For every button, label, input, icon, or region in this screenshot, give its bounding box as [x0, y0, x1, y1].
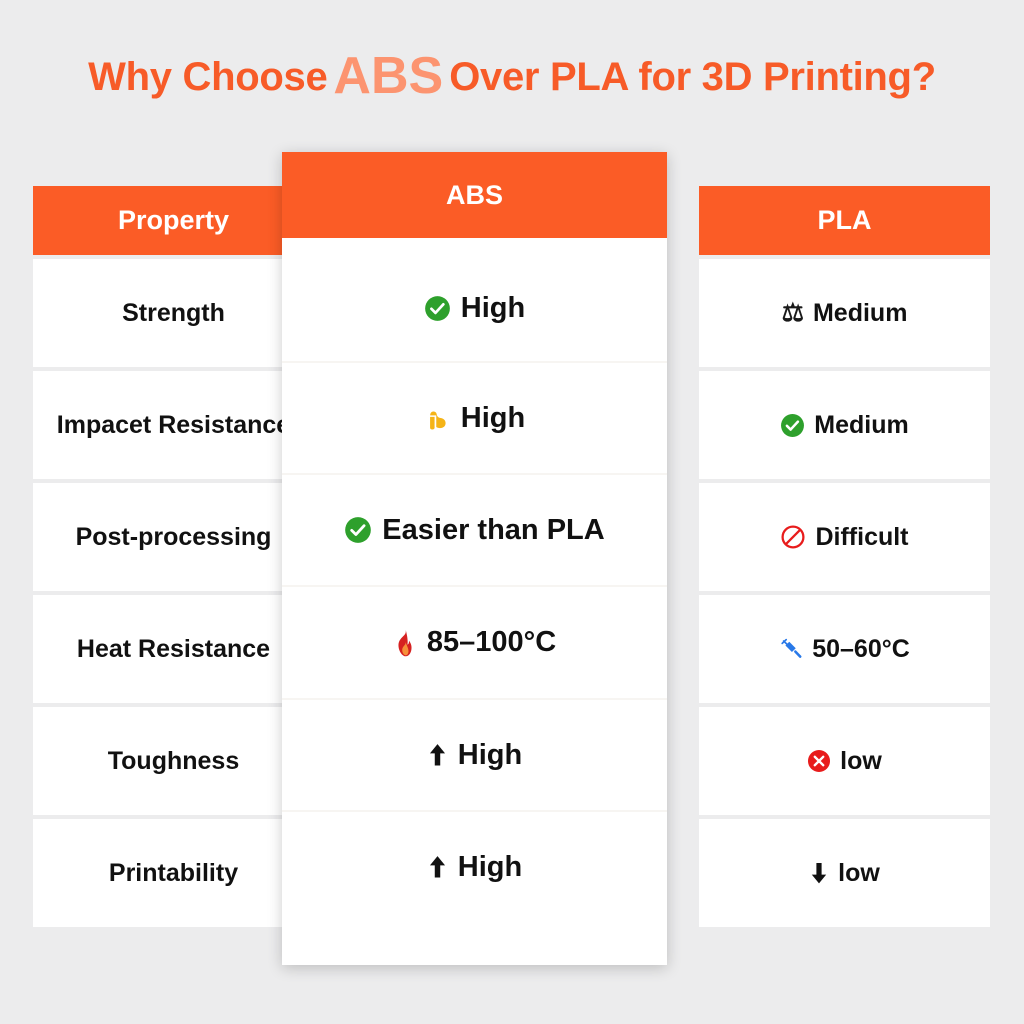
page-title-after: Over PLA for 3D Printing? — [449, 55, 936, 99]
abs-card-body: High High Easier than PLA — [282, 238, 667, 965]
abs-value-cell: High — [282, 698, 667, 810]
arrow-up-icon — [427, 742, 448, 768]
pla-value-text: Medium — [813, 298, 907, 329]
check-circle-green-icon — [780, 413, 805, 438]
abs-value-text: High — [461, 402, 525, 435]
pla-value-text: Difficult — [815, 522, 908, 553]
property-label: Printability — [33, 819, 314, 927]
flexed-bicep-icon — [424, 405, 451, 432]
page-header: Why ChooseABSOver PLA for 3D Printing? — [0, 0, 1024, 152]
abs-value-cell: High — [282, 256, 667, 361]
abs-value-cell: High — [282, 361, 667, 473]
arrow-up-icon — [427, 854, 448, 880]
abs-value-cell: 85–100°C — [282, 585, 667, 698]
abs-value-cell: High — [282, 810, 667, 922]
property-label: Toughness — [33, 707, 314, 815]
abs-value-text: High — [458, 739, 522, 772]
syringe-icon — [779, 637, 803, 661]
property-label: Post-processing — [33, 483, 314, 591]
flame-icon — [393, 629, 417, 657]
abs-highlight-card: ABS High High — [282, 152, 667, 965]
header-cell-pla: PLA — [699, 186, 990, 255]
arrow-down-icon — [809, 861, 829, 885]
pla-value-cell: low — [699, 707, 990, 815]
pla-value-cell: 50–60°C — [699, 595, 990, 703]
abs-value-text: 85–100°C — [427, 626, 556, 659]
abs-value-cell: Easier than PLA — [282, 473, 667, 585]
page-title-before: Why Choose — [88, 55, 327, 99]
page-title: Why ChooseABSOver PLA for 3D Printing? — [88, 50, 936, 102]
pla-value-text: low — [838, 858, 880, 889]
pla-value-text: 50–60°C — [812, 634, 910, 665]
balance-scale-icon: ⚖ — [782, 301, 804, 326]
property-label: Impacet Resistance — [33, 371, 314, 479]
pla-value-text: low — [840, 746, 882, 777]
header-cell-property: Property — [33, 186, 314, 255]
pla-value-cell: Medium — [699, 371, 990, 479]
page-title-abs-highlight: ABS — [327, 47, 449, 105]
prohibited-red-icon — [780, 524, 806, 550]
x-circle-red-icon — [807, 749, 831, 773]
pla-value-text: Medium — [814, 410, 908, 441]
property-label: Heat Resistance — [33, 595, 314, 703]
check-circle-green-icon — [424, 295, 451, 322]
abs-card-header: ABS — [282, 152, 667, 238]
abs-value-text: Easier than PLA — [382, 514, 604, 547]
pla-value-cell: ⚖ Medium — [699, 259, 990, 367]
check-circle-green-icon — [344, 516, 372, 544]
abs-value-text: High — [458, 851, 522, 884]
pla-value-cell: low — [699, 819, 990, 927]
abs-value-text: High — [461, 292, 525, 325]
property-label: Strength — [33, 259, 314, 367]
pla-value-cell: Difficult — [699, 483, 990, 591]
